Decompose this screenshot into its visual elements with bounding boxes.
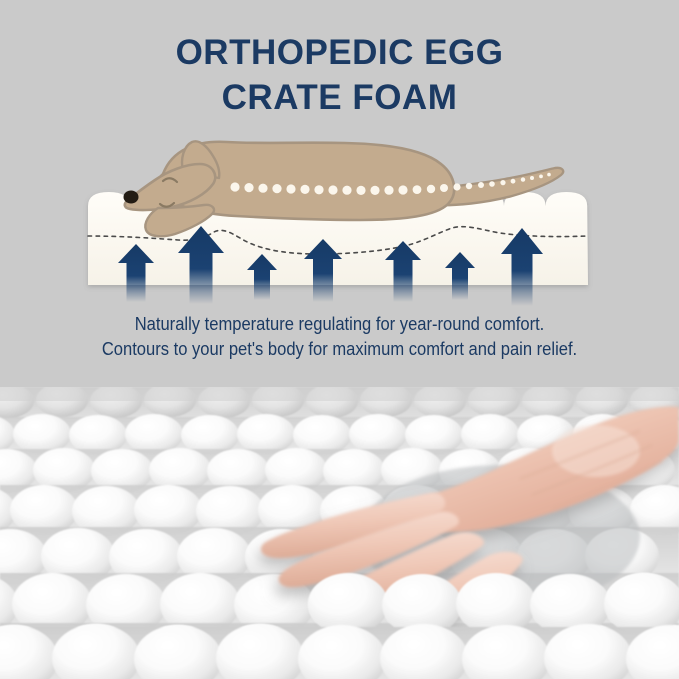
infographic-top-panel: ORTHOPEDIC EGG CRATE FOAM (0, 0, 679, 387)
feature-description: Naturally temperature regulating for yea… (0, 312, 679, 362)
subcopy-line-2: Contours to your pet's body for maximum … (27, 337, 652, 362)
page-title: ORTHOPEDIC EGG CRATE FOAM (0, 30, 679, 120)
product-infographic-page: ORTHOPEDIC EGG CRATE FOAM (0, 0, 679, 679)
headline-line-2: CRATE FOAM (0, 75, 679, 120)
headline-line-1: ORTHOPEDIC EGG (0, 30, 679, 75)
dog-on-foam-illustration (0, 128, 679, 313)
foam-texture-photo-panel (0, 387, 679, 679)
hand-pressing-foam-photo (0, 387, 679, 679)
dog-nose-icon (124, 191, 139, 204)
subcopy-line-1: Naturally temperature regulating for yea… (27, 312, 652, 337)
